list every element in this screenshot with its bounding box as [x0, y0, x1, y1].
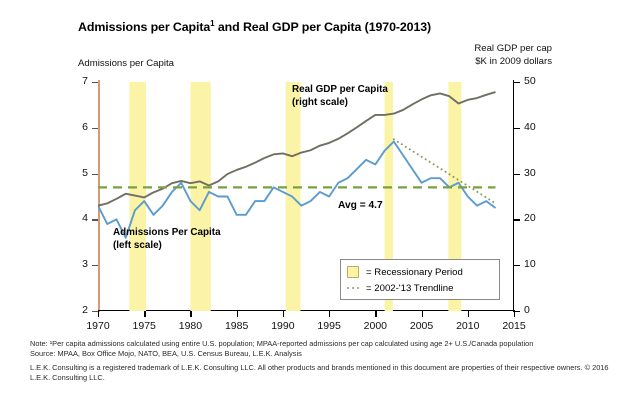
legend-label-recession: = Recessionary Period [366, 267, 463, 278]
page-title: Admissions per Capita1 and Real GDP per … [78, 19, 431, 34]
y-axis-tick-left [92, 265, 98, 266]
y-axis-label-right: 20 [524, 212, 564, 224]
annotation-admissions-line1: Admissions Per Capita [113, 227, 221, 240]
annotation-admissions-series: Admissions Per Capita (left scale) [113, 227, 221, 252]
x-axis-label: 2010 [448, 320, 488, 332]
x-axis-tick [190, 311, 191, 317]
y-axis-label-right: 40 [524, 121, 564, 133]
series-line [394, 139, 496, 203]
footnote-source: Source: MPAA, Box Office Mojo, NATO, BEA… [30, 349, 610, 359]
trendline-dotted-swatch-icon [347, 282, 359, 294]
legend-item-trendline: = 2002-'13 Trendline [347, 280, 493, 296]
x-axis-label: 1990 [263, 320, 303, 332]
x-axis-tick [422, 311, 423, 317]
x-axis-label: 2000 [355, 320, 395, 332]
y-axis-label-right: 10 [524, 258, 564, 270]
page-title-part-b: and Real GDP per Capita (1970-2013) [215, 20, 432, 34]
y-axis-label-right: 0 [524, 304, 564, 316]
y-axis-label-right: 50 [524, 75, 564, 87]
y-axis-tick-right [514, 219, 520, 220]
y-axis-label-left: 4 [48, 212, 88, 224]
x-axis-tick [514, 311, 515, 317]
legend-label-trendline: = 2002-'13 Trendline [366, 283, 453, 294]
y-axis-tick-right [514, 174, 520, 175]
y-axis-tick-right [514, 265, 520, 266]
y-axis-label-left: 5 [48, 167, 88, 179]
x-axis-label: 1995 [309, 320, 349, 332]
legend-item-recession: = Recessionary Period [347, 264, 493, 280]
x-axis-label: 1980 [170, 320, 210, 332]
y-axis-tick-left [92, 174, 98, 175]
y-axis-tick-right [514, 128, 520, 129]
right-axis-caption-line1: Real GDP per cap [474, 43, 552, 56]
left-axis-caption: Admissions per Capita [78, 58, 174, 69]
x-axis-tick [283, 311, 284, 317]
annotation-average: Avg = 4.7 [338, 200, 383, 213]
right-axis-caption-line2: $K in 2009 dollars [474, 56, 552, 69]
annotation-gdp-line1: Real GDP per Capita [292, 84, 388, 97]
footnotes: Note: ¹Per capita admissions calculated … [30, 339, 610, 383]
recession-band-swatch-icon [347, 266, 359, 278]
chart-legend: = Recessionary Period = 2002-'13 Trendli… [340, 259, 500, 300]
x-axis-label: 2015 [494, 320, 534, 332]
footnote-note: Note: ¹Per capita admissions calculated … [30, 339, 610, 349]
y-axis-label-left: 2 [48, 304, 88, 316]
y-axis-tick-right [514, 82, 520, 83]
y-axis-label-left: 7 [48, 75, 88, 87]
x-axis-label: 1975 [124, 320, 164, 332]
annotation-gdp-series: Real GDP per Capita (right scale) [292, 84, 388, 109]
x-axis-label: 2005 [402, 320, 442, 332]
footnote-trademark: L.E.K. Consulting is a registered tradem… [30, 363, 610, 383]
x-axis-tick [329, 311, 330, 317]
annotation-gdp-line2: (right scale) [292, 97, 388, 110]
y-axis-label-right: 30 [524, 167, 564, 179]
x-axis-tick [144, 311, 145, 317]
y-axis-tick-left [92, 219, 98, 220]
y-axis-label-left: 3 [48, 258, 88, 270]
right-axis-caption: Real GDP per cap $K in 2009 dollars [474, 43, 552, 68]
y-axis-tick-left [92, 128, 98, 129]
y-axis-tick-left [92, 82, 98, 83]
x-axis-label: 1985 [217, 320, 257, 332]
y-axis-label-left: 6 [48, 121, 88, 133]
x-axis-tick [375, 311, 376, 317]
x-axis-tick [98, 311, 99, 317]
x-axis-label: 1970 [78, 320, 118, 332]
chart-slide: Admissions per Capita1 and Real GDP per … [0, 0, 618, 402]
annotation-admissions-line2: (left scale) [113, 240, 221, 253]
recession-band [190, 82, 210, 311]
page-title-part-a: Admissions per Capita [78, 20, 210, 34]
x-axis-tick [468, 311, 469, 317]
x-axis-tick [237, 311, 238, 317]
